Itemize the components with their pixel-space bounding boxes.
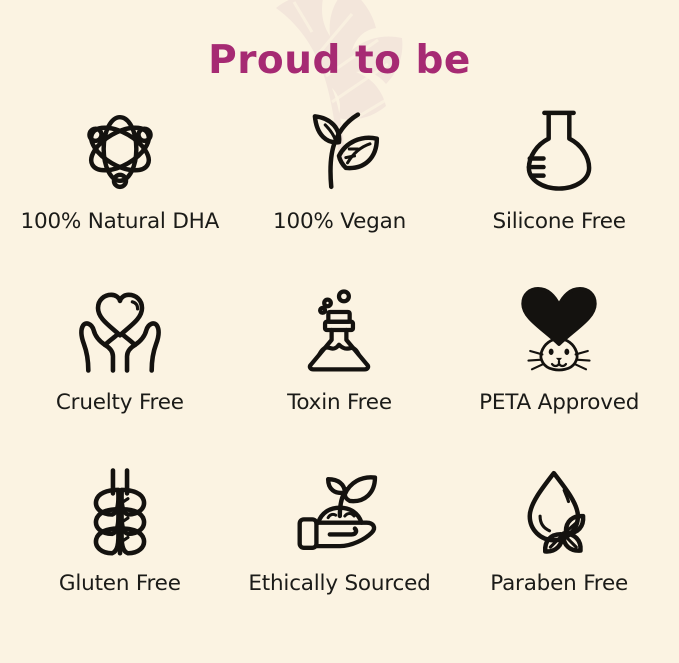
badge-label: PETA Approved bbox=[479, 390, 639, 415]
round-flask-icon bbox=[516, 101, 602, 197]
page-title: Proud to be bbox=[0, 38, 679, 83]
badge-label: Toxin Free bbox=[287, 390, 392, 415]
badge-label: 100% Natural DHA bbox=[20, 209, 219, 234]
hand-soil-sprout-icon bbox=[293, 463, 385, 559]
peta-bunny-heart-icon bbox=[511, 282, 607, 378]
badge-label: Paraben Free bbox=[490, 571, 628, 596]
badge-label: Gluten Free bbox=[59, 571, 181, 596]
badge-label: 100% Vegan bbox=[273, 209, 406, 234]
badge-vegan: 100% Vegan bbox=[230, 101, 450, 282]
badge-cruelty-free: Cruelty Free bbox=[10, 282, 230, 463]
sprout-leaf-icon bbox=[296, 101, 382, 197]
badge-ethically-sourced: Ethically Sourced bbox=[230, 463, 450, 644]
atom-icon bbox=[77, 101, 163, 197]
badge-peta-approved: PETA Approved bbox=[449, 282, 669, 463]
badge-label: Cruelty Free bbox=[56, 390, 184, 415]
badge-natural-dha: 100% Natural DHA bbox=[10, 101, 230, 282]
badge-grid: 100% Natural DHA 100% Vegan bbox=[0, 101, 679, 644]
water-droplet-leaves-icon bbox=[516, 463, 602, 559]
badge-label: Silicone Free bbox=[493, 209, 626, 234]
corked-flask-bubbles-icon bbox=[298, 282, 380, 378]
badge-paraben-free: Paraben Free bbox=[449, 463, 669, 644]
wheat-stalk-icon bbox=[80, 463, 160, 559]
badge-gluten-free: Gluten Free bbox=[10, 463, 230, 644]
hands-holding-heart-icon bbox=[76, 282, 164, 378]
badge-silicone-free: Silicone Free bbox=[449, 101, 669, 282]
badge-label: Ethically Sourced bbox=[248, 571, 430, 596]
badge-toxin-free: Toxin Free bbox=[230, 282, 450, 463]
